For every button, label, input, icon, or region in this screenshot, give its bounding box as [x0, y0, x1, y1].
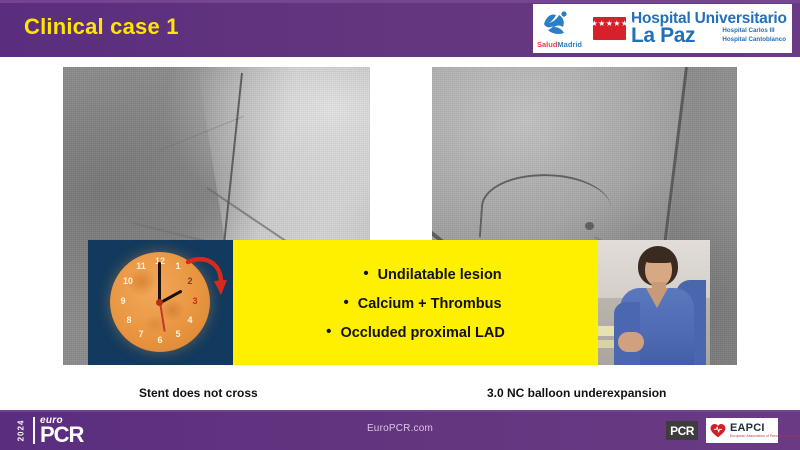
footer-accent-line — [0, 410, 800, 412]
bullet-text-1: Undilatable lesion — [378, 267, 502, 283]
bullet-list: • Undilatable lesion • Calcium + Thrombu… — [233, 240, 598, 365]
bullet-marker-3: • — [326, 324, 331, 339]
pcr-badge-label: PCR — [670, 424, 694, 438]
bullet-item-2: • Calcium + Thrombus — [233, 296, 598, 312]
callout-strip: 12 1 2 3 4 5 6 7 8 9 10 11 • — [88, 240, 710, 365]
slide: Clinical case 1 SaludMadrid ★★★★★★★ Hosp… — [0, 0, 800, 450]
eapci-name: EAPCI — [730, 423, 800, 434]
clock-number-5: 5 — [171, 330, 185, 339]
heart-icon — [710, 423, 726, 438]
madrid-flag-icon: ★★★★★★★ — [593, 17, 626, 40]
clock-center-hub — [156, 299, 163, 306]
clinician-photo — [598, 240, 710, 365]
eapci-subtitle: European Association of Percutaneous Car… — [730, 435, 800, 438]
clock-number-10: 10 — [121, 277, 135, 286]
bullet-text-3: Occluded proximal LAD — [340, 325, 504, 341]
caption-left: Stent does not cross — [139, 386, 258, 400]
bullet-item-1: • Undilatable lesion — [233, 267, 598, 283]
clock-number-8: 8 — [122, 316, 136, 325]
salud-text: Salud — [537, 40, 557, 49]
clock-number-1: 1 — [171, 262, 185, 271]
bullet-text-2: Calcium + Thrombus — [358, 296, 502, 312]
eapci-logo: EAPCI European Association of Percutaneo… — [706, 418, 778, 443]
header-accent-line — [0, 0, 800, 3]
hospital-sub1: Hospital Carlos III — [722, 27, 786, 35]
clock-number-6: 6 — [153, 336, 167, 345]
slide-footer: 2024 euro PCR EuroPCR.com PCR EAPCI Euro… — [0, 410, 800, 450]
clock-number-4: 4 — [183, 316, 197, 325]
pcr-badge: PCR — [666, 421, 698, 440]
bullet-item-3: • Occluded proximal LAD — [233, 325, 598, 341]
saludmadrid-mark-icon — [541, 10, 571, 36]
saludmadrid-wordmark: SaludMadrid — [537, 41, 593, 49]
hospital-sub2: Hospital Cantoblanco — [722, 36, 786, 44]
clockwise-arrow-icon — [184, 254, 228, 300]
clock-minute-hand — [158, 262, 161, 302]
flag-stars: ★★★★★★★ — [583, 20, 636, 28]
clock-number-7: 7 — [134, 330, 148, 339]
photo-hands — [618, 332, 644, 352]
bullet-marker-2: • — [343, 295, 348, 310]
slide-header: Clinical case 1 SaludMadrid ★★★★★★★ Hosp… — [0, 0, 800, 57]
clock-number-11: 11 — [134, 262, 148, 271]
clock-number-9: 9 — [116, 297, 130, 306]
saludmadrid-logo: SaludMadrid — [537, 8, 593, 50]
yellow-callout-box: • Undilatable lesion • Calcium + Thrombu… — [233, 240, 598, 365]
clock-image: 12 1 2 3 4 5 6 7 8 9 10 11 — [88, 240, 233, 365]
photo-fringe — [643, 250, 675, 263]
hospital-subsites: Hospital Carlos III Hospital Cantoblanco — [722, 27, 786, 44]
hospital-logo: SaludMadrid ★★★★★★★ Hospital Universitar… — [533, 4, 792, 53]
madrid-text: Madrid — [557, 40, 582, 49]
bullet-marker-1: • — [363, 266, 368, 281]
eapci-text-block: EAPCI European Association of Percutaneo… — [730, 423, 800, 439]
page-title: Clinical case 1 — [24, 14, 179, 40]
caption-right: 3.0 NC balloon underexpansion — [487, 386, 666, 400]
